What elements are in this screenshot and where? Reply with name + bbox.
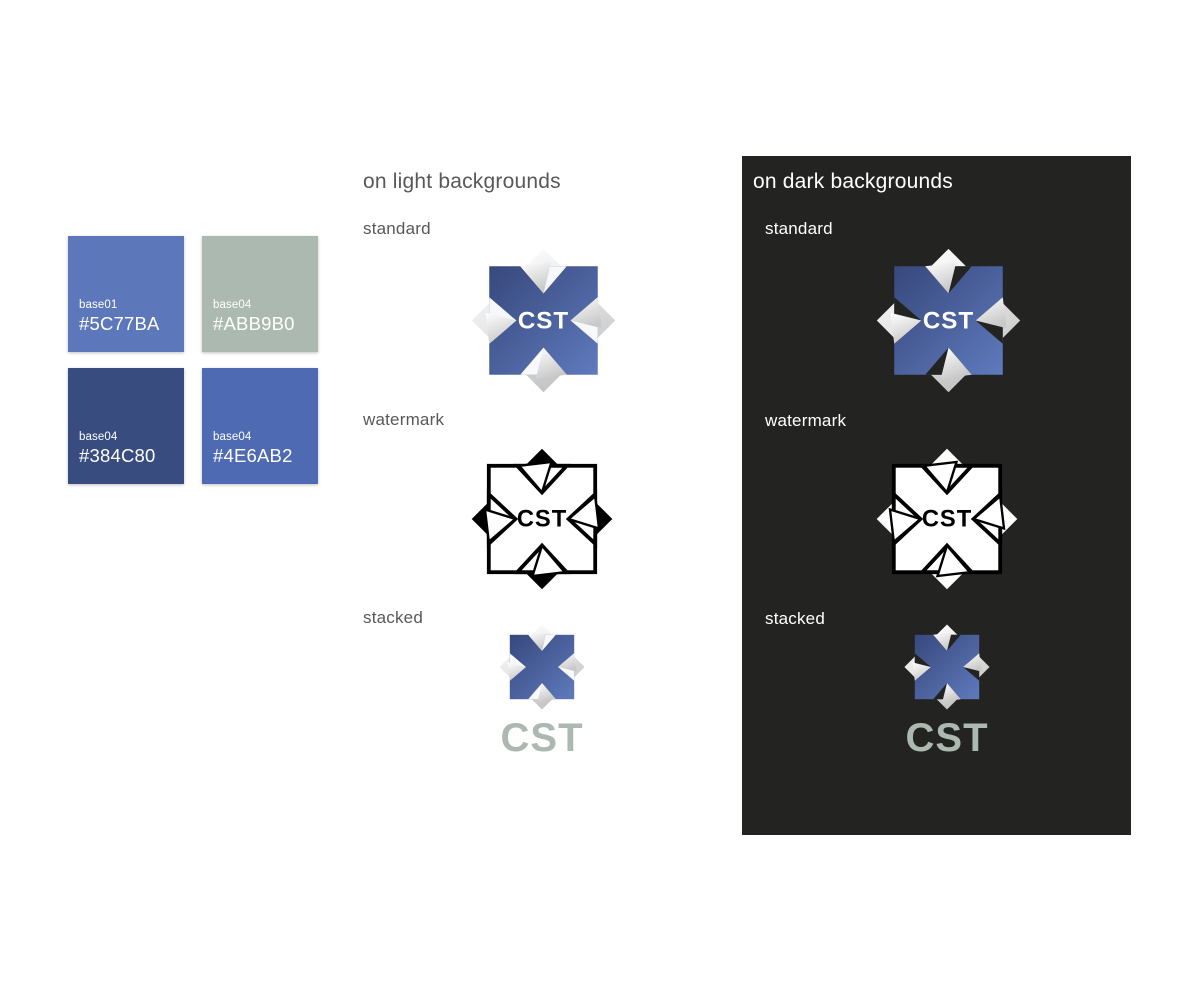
light-variant-label-standard: standard [363, 219, 431, 239]
logo-mark-text: CST [517, 506, 567, 533]
light-section-title: on light backgrounds [363, 170, 561, 194]
dark-variant-label-stacked: stacked [765, 609, 825, 629]
color-swatch[interactable]: base01 #5C77BA [68, 236, 184, 352]
color-swatch[interactable]: base04 #384C80 [68, 368, 184, 484]
dark-variant-label-watermark: watermark [765, 411, 846, 431]
logo-watermark-dark: CST [871, 443, 1023, 595]
logo-stacked-wordmark-dark: CST [867, 718, 1027, 758]
dark-variant-label-standard: standard [765, 219, 833, 239]
dark-section-title: on dark backgrounds [753, 170, 953, 194]
swatch-hex: #384C80 [79, 445, 156, 466]
logo-mark-text: CST [518, 307, 569, 334]
logo-standard-dark: CST [871, 243, 1026, 398]
light-variant-label-stacked: stacked [363, 608, 423, 628]
color-swatch[interactable]: base04 #ABB9B0 [202, 236, 318, 352]
color-swatch[interactable]: base04 #4E6AB2 [202, 368, 318, 484]
logo-stacked-wordmark-light: CST [462, 718, 622, 758]
logo-watermark-light: CST [466, 443, 618, 595]
swatch-name: base04 [213, 431, 293, 444]
logo-stacked-light [496, 621, 588, 713]
swatch-hex: #ABB9B0 [213, 313, 295, 334]
logo-standard-light: CST [466, 243, 621, 398]
color-palette: base01 #5C77BA base04 #ABB9B0 base04 #38… [68, 236, 320, 492]
light-variant-label-watermark: watermark [363, 410, 444, 430]
style-guide-canvas: base01 #5C77BA base04 #ABB9B0 base04 #38… [0, 0, 1200, 1000]
swatch-name: base04 [79, 431, 156, 444]
swatch-hex: #4E6AB2 [213, 445, 293, 466]
swatch-name: base01 [79, 299, 160, 312]
logo-mark-text: CST [923, 307, 974, 334]
swatch-hex: #5C77BA [79, 313, 160, 334]
logo-mark-text: CST [922, 506, 972, 533]
swatch-name: base04 [213, 299, 295, 312]
logo-stacked-dark [901, 621, 993, 713]
